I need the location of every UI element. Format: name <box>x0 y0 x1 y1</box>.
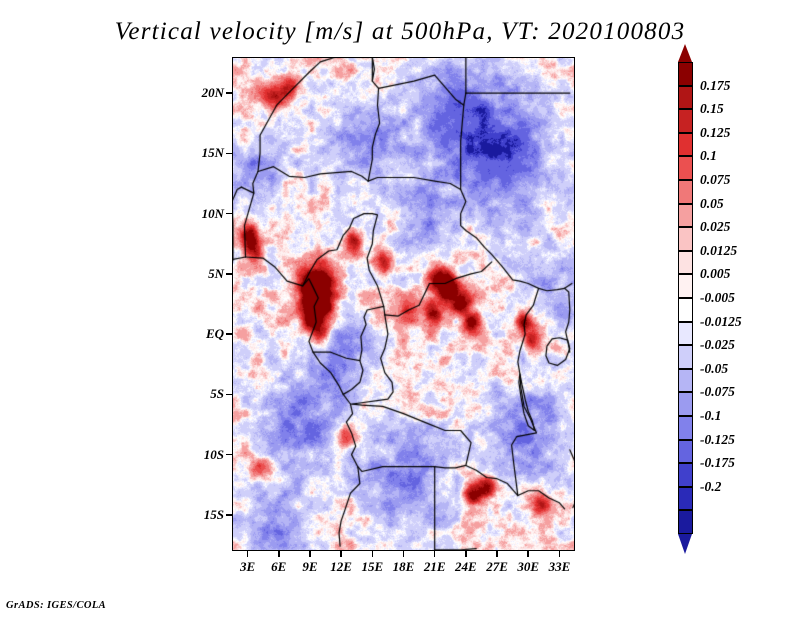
colorbar-tick-label: 0.1 <box>700 148 717 164</box>
longitude-tick <box>434 551 436 557</box>
colorbar-under-arrow-icon <box>678 534 692 554</box>
longitude-tick <box>247 551 249 557</box>
colorbar-over-arrow-icon <box>678 44 692 62</box>
colorbar-cell <box>678 274 693 298</box>
colorbar-tick-label: 0.0125 <box>700 243 737 259</box>
colorbar-tick-label: -0.125 <box>700 432 735 448</box>
longitude-tick-label: 3E <box>240 559 255 575</box>
longitude-tick-label: 21E <box>424 559 446 575</box>
colorbar-legend: 0.1750.150.1250.10.0750.050.0250.01250.0… <box>678 62 693 534</box>
latitude-tick <box>226 454 232 456</box>
colorbar-tick-label: -0.05 <box>700 361 728 377</box>
latitude-tick <box>226 394 232 396</box>
longitude-tick-label: 30E <box>517 559 539 575</box>
colorbar-cell <box>678 204 693 228</box>
longitude-tick-label: 27E <box>486 559 508 575</box>
longitude-tick-label: 9E <box>302 559 317 575</box>
vertical-velocity-heatmap <box>232 57 575 551</box>
latitude-tick-label: 10N <box>202 206 224 222</box>
latitude-tick-label: 10S <box>204 447 224 463</box>
latitude-tick <box>226 213 232 215</box>
colorbar-cell <box>678 180 693 204</box>
colorbar-cell <box>678 345 693 369</box>
latitude-tick <box>226 273 232 275</box>
longitude-tick <box>340 551 342 557</box>
colorbar-cell <box>678 392 693 416</box>
latitude-tick-label: 15S <box>204 507 224 523</box>
longitude-tick <box>403 551 405 557</box>
colorbar-tick-label: 0.075 <box>700 172 730 188</box>
colorbar-cell <box>678 251 693 275</box>
longitude-tick <box>496 551 498 557</box>
latitude-tick <box>226 153 232 155</box>
colorbar-cell <box>678 369 693 393</box>
colorbar-tick-label: -0.005 <box>700 290 735 306</box>
colorbar-tick-label: -0.025 <box>700 337 735 353</box>
latitude-tick-label: 5S <box>210 386 224 402</box>
latitude-tick <box>226 514 232 516</box>
colorbar-cell <box>678 487 693 511</box>
colorbar-tick-label: 0.15 <box>700 101 724 117</box>
longitude-tick-label: 6E <box>271 559 286 575</box>
colorbar-tick-label: 0.05 <box>700 196 724 212</box>
colorbar-tick-label: -0.2 <box>700 479 721 495</box>
attribution-footer: GrADS: IGES/COLA <box>6 600 106 611</box>
longitude-tick-label: 33E <box>549 559 571 575</box>
map-plot-area: 20N15N10N5NEQ5S10S15S 3E6E9E12E15E18E21E… <box>232 57 575 551</box>
plot-page: Vertical velocity [m/s] at 500hPa, VT: 2… <box>0 0 800 618</box>
longitude-tick <box>372 551 374 557</box>
latitude-tick-label: 5N <box>208 266 224 282</box>
colorbar-cell <box>678 298 693 322</box>
colorbar-cell <box>678 510 693 534</box>
colorbar-cell <box>678 109 693 133</box>
page-title: Vertical velocity [m/s] at 500hPa, VT: 2… <box>0 18 800 46</box>
colorbar-cell <box>678 156 693 180</box>
longitude-tick-label: 15E <box>361 559 383 575</box>
latitude-tick-label: 15N <box>202 145 224 161</box>
colorbar-cell <box>678 322 693 346</box>
colorbar-tick-label: 0.025 <box>700 219 730 235</box>
colorbar-cell <box>678 62 693 86</box>
colorbar-tick-label: 0.005 <box>700 266 730 282</box>
latitude-tick-label: EQ <box>206 326 224 342</box>
colorbar-cell <box>678 440 693 464</box>
colorbar-tick-label: -0.075 <box>700 384 735 400</box>
colorbar-cell <box>678 227 693 251</box>
colorbar-tick-label: 0.175 <box>700 78 730 94</box>
colorbar-tick-label: -0.0125 <box>700 314 742 330</box>
colorbar-cell <box>678 86 693 110</box>
colorbar-cell <box>678 416 693 440</box>
colorbar-tick-label: -0.1 <box>700 408 721 424</box>
longitude-tick <box>278 551 280 557</box>
longitude-tick-label: 18E <box>393 559 415 575</box>
longitude-tick <box>465 551 467 557</box>
longitude-tick-label: 12E <box>330 559 352 575</box>
longitude-tick <box>559 551 561 557</box>
colorbar-tick-label: -0.175 <box>700 455 735 471</box>
colorbar-cell <box>678 463 693 487</box>
longitude-tick <box>527 551 529 557</box>
latitude-tick-label: 20N <box>202 85 224 101</box>
colorbar-tick-label: 0.125 <box>700 125 730 141</box>
latitude-tick <box>226 333 232 335</box>
colorbar-cell <box>678 133 693 157</box>
longitude-tick-label: 24E <box>455 559 477 575</box>
latitude-tick <box>226 92 232 94</box>
longitude-tick <box>309 551 311 557</box>
